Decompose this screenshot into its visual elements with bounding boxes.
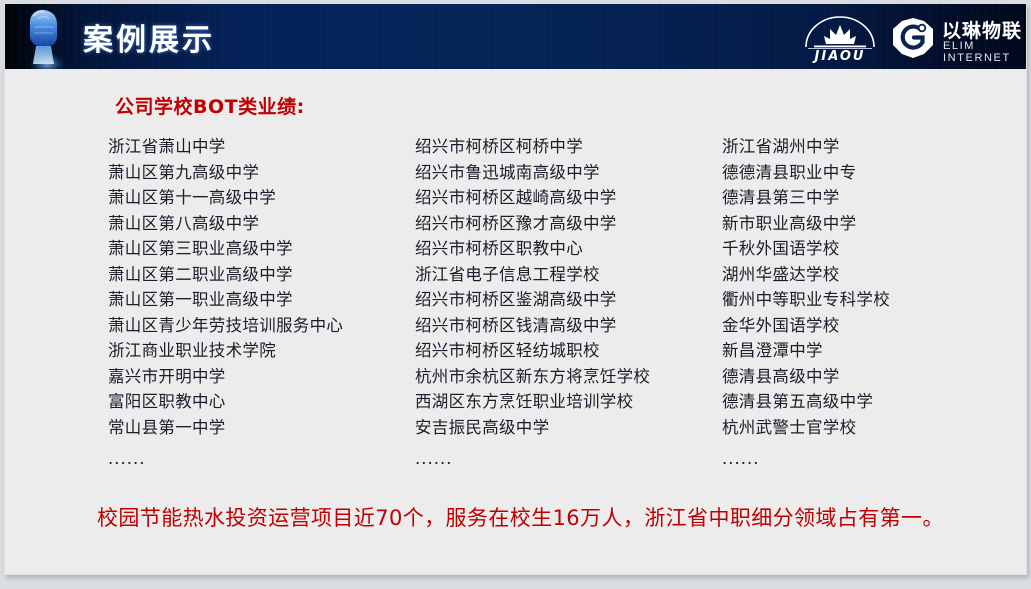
list-item: 绍兴市柯桥区越崎高级中学 [415,185,650,211]
list-item: 浙江商业职业技术学院 [108,338,343,364]
list-item: 新昌澄潭中学 [722,338,890,364]
slide-canvas: 案例展示 JIAOU 以琳物联 ELIM INTERNET 公司学校BOT类业绩… [4,3,1027,575]
school-column-2: 绍兴市柯桥区柯桥中学 绍兴市鲁迅城南高级中学 绍兴市柯桥区越崎高级中学 绍兴市柯… [415,134,650,477]
elim-logo-text-cn: 以琳物联 [942,16,1022,43]
school-column-1: 浙江省萧山中学 萧山区第九高级中学 萧山区第十一高级中学 萧山区第八高级中学 萧… [108,134,343,477]
list-item: 萧山区第三职业高级中学 [108,236,343,262]
jiaou-logo-mark [794,13,886,51]
section-title: 公司学校BOT类业绩: [115,92,305,119]
list-item: 绍兴市柯桥区豫才高级中学 [415,211,650,237]
list-item: 德清县高级中学 [722,364,890,390]
list-item: 安吉振民高级中学 [415,415,650,441]
list-item: 衢州中等职业专科学校 [722,287,890,313]
list-item: 金华外国语学校 [722,313,890,339]
list-item: 绍兴市柯桥区轻纺城职校 [415,338,650,364]
list-ellipsis: ······ [108,451,343,477]
list-ellipsis: ······ [722,451,890,477]
list-item: 富阳区职教中心 [108,389,343,415]
slide-header: 案例展示 JIAOU 以琳物联 ELIM INTERNET [5,4,1027,69]
list-item: 德清县第五高级中学 [722,389,890,415]
list-item: 嘉兴市开明中学 [108,364,343,390]
elim-logo-text-en: ELIM INTERNET [943,40,1026,64]
list-item: 浙江省萧山中学 [108,134,343,160]
list-item: 湖州华盛达学校 [722,262,890,288]
list-item: 德德清县职业中专 [722,160,890,186]
page-title: 案例展示 [83,15,215,59]
list-item: 千秋外国语学校 [722,236,890,262]
list-item: 萧山区青少年劳技培训服务中心 [108,313,343,339]
glowing-fist-icon [21,6,65,66]
list-item: 绍兴市柯桥区柯桥中学 [415,134,650,160]
list-item: 萧山区第二职业高级中学 [108,262,343,288]
list-item: 绍兴市柯桥区钱清高级中学 [415,313,650,339]
school-column-3: 浙江省湖州中学 德德清县职业中专 德清县第三中学 新市职业高级中学 千秋外国语学… [722,134,890,477]
elim-logo: 以琳物联 ELIM INTERNET [891,15,1026,61]
list-item: 萧山区第八高级中学 [108,211,343,237]
elim-logo-mark [891,17,935,59]
list-item: 浙江省湖州中学 [722,134,890,160]
list-item: 萧山区第十一高级中学 [108,185,343,211]
list-item: 常山县第一中学 [108,415,343,441]
list-item: 绍兴市鲁迅城南高级中学 [415,160,650,186]
list-item: 绍兴市柯桥区职教中心 [415,236,650,262]
list-item: 新市职业高级中学 [722,211,890,237]
list-item: 萧山区第九高级中学 [108,160,343,186]
list-item: 浙江省电子信息工程学校 [415,262,650,288]
jiaou-logo-text: JIAOU [794,49,886,64]
summary-text: 校园节能热水投资运营项目近70个，服务在校生16万人，浙江省中职细分领域占有第一… [97,502,944,532]
list-item: 西湖区东方烹饪职业培训学校 [415,389,650,415]
jiaou-logo: JIAOU [794,13,886,65]
list-item: 德清县第三中学 [722,185,890,211]
list-item: 杭州武警士官学校 [722,415,890,441]
list-ellipsis: ······ [415,451,650,477]
fist-icon-container [15,4,77,69]
list-item: 杭州市余杭区新东方将烹饪学校 [415,364,650,390]
list-item: 萧山区第一职业高级中学 [108,287,343,313]
list-item: 绍兴市柯桥区鉴湖高级中学 [415,287,650,313]
